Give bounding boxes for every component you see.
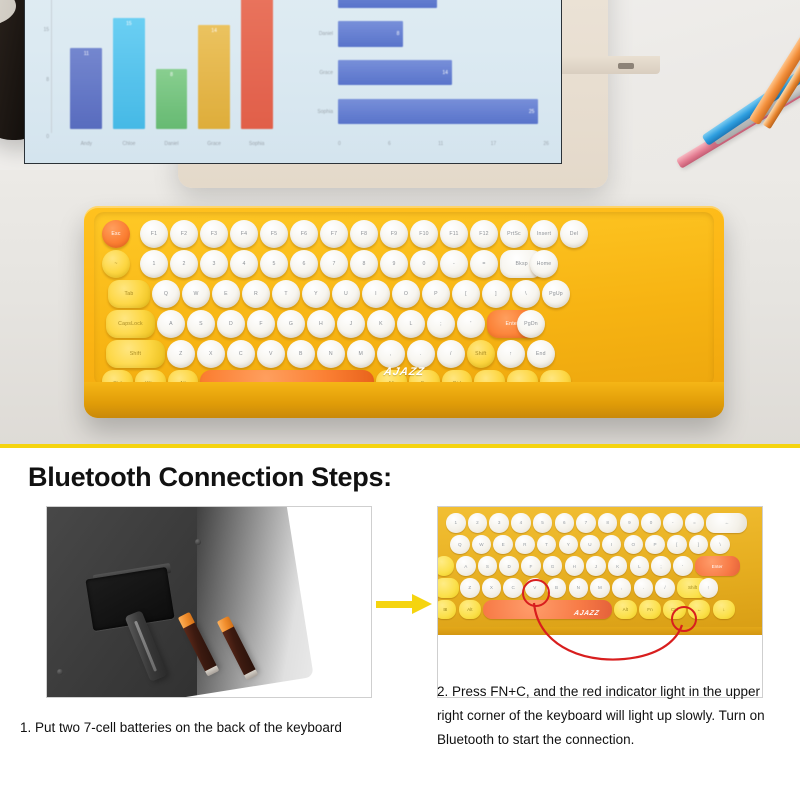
highlight-ring-c-key bbox=[522, 579, 550, 607]
hxtick-0: 0 bbox=[338, 141, 341, 147]
mkey-[interactable]: / bbox=[655, 578, 675, 598]
key-f12[interactable]: F12 bbox=[470, 220, 498, 248]
mkey-[interactable]: - bbox=[663, 513, 683, 533]
key-Shift[interactable]: Shift bbox=[467, 340, 495, 368]
product-photo-hero: 柱状图 0 8 15 23 30 11 15 8 14 25 bbox=[0, 0, 800, 446]
mkey-[interactable]: \ bbox=[710, 535, 730, 555]
key-[interactable]: . bbox=[407, 340, 435, 368]
mkey-I[interactable]: I bbox=[602, 535, 622, 555]
key-[interactable]: ] bbox=[482, 280, 510, 308]
x-axis-labels: Andy Chloe Daniel Grace Sophia bbox=[65, 141, 278, 147]
mkey-[interactable]: [ bbox=[667, 535, 687, 555]
mkey-4[interactable]: 4 bbox=[511, 513, 531, 533]
key-E[interactable]: E bbox=[212, 280, 240, 308]
mkey-2[interactable]: 2 bbox=[468, 513, 488, 533]
mkey-X[interactable]: X bbox=[482, 578, 502, 598]
bar-daniel: 8 bbox=[156, 69, 188, 129]
key-R[interactable]: R bbox=[242, 280, 270, 308]
key-f6[interactable]: F6 bbox=[290, 220, 318, 248]
mkey-fn[interactable]: Fn bbox=[639, 600, 661, 620]
key-H[interactable]: H bbox=[307, 310, 335, 338]
ytick-1: 8 bbox=[46, 77, 49, 83]
mkey-Y[interactable]: Y bbox=[559, 535, 579, 555]
key-3[interactable]: 3 bbox=[200, 250, 228, 278]
key-J[interactable]: J bbox=[337, 310, 365, 338]
mkey-left-shift[interactable] bbox=[438, 578, 459, 598]
key-[interactable]: = bbox=[470, 250, 498, 278]
mkey-1[interactable]: 1 bbox=[446, 513, 466, 533]
key-2[interactable]: 2 bbox=[170, 250, 198, 278]
horizontal-bar-chart: 条形图 Andy Chloe Daniel Grace Sophia 11 12… bbox=[294, 0, 562, 164]
key-4[interactable]: 4 bbox=[230, 250, 258, 278]
horizontal-x-axis-ticks: 0 6 11 17 26 bbox=[338, 141, 549, 147]
key-S[interactable]: S bbox=[187, 310, 215, 338]
mini-keyboard: 1234567890-=←QWERTYUIOP[]\ASDFGHJKL;'Ent… bbox=[438, 507, 762, 635]
mkey-H[interactable]: H bbox=[565, 556, 585, 576]
key-G[interactable]: G bbox=[277, 310, 305, 338]
hrow-chloe: 12 bbox=[338, 0, 549, 8]
section-heading: Bluetooth Connection Steps: bbox=[28, 462, 392, 493]
hrow-sophia: 25 bbox=[338, 99, 549, 124]
mkey-M[interactable]: M bbox=[590, 578, 610, 598]
key-Tab[interactable]: Tab bbox=[108, 280, 150, 308]
key-0[interactable]: 0 bbox=[410, 250, 438, 278]
step1-caption: 1. Put two 7-cell batteries on the back … bbox=[20, 716, 400, 740]
key-f9[interactable]: F9 bbox=[380, 220, 408, 248]
key-P[interactable]: P bbox=[422, 280, 450, 308]
key-D[interactable]: D bbox=[217, 310, 245, 338]
key-Home[interactable]: Home bbox=[530, 250, 558, 278]
mkey-6[interactable]: 6 bbox=[555, 513, 575, 533]
hlabel-daniel: Daniel bbox=[298, 21, 336, 46]
xlabel-grace: Grace bbox=[198, 141, 230, 147]
hxtick-4: 26 bbox=[543, 141, 549, 147]
mkey-0[interactable]: 0 bbox=[641, 513, 661, 533]
key-[interactable]: ↑ bbox=[497, 340, 525, 368]
mkey-alt[interactable]: Alt bbox=[459, 600, 481, 620]
mini-keyboard-brand-logo: AJAZZ bbox=[573, 610, 600, 617]
mkey-P[interactable]: P bbox=[645, 535, 665, 555]
mkey-S[interactable]: S bbox=[478, 556, 498, 576]
bar-sophia: 25 bbox=[241, 0, 273, 129]
highlight-ring-fn-key bbox=[671, 606, 697, 632]
key-B[interactable]: B bbox=[287, 340, 315, 368]
yellow-right-arrow-icon bbox=[376, 594, 434, 614]
key-PgUp[interactable]: PgUp bbox=[542, 280, 570, 308]
key-A[interactable]: A bbox=[157, 310, 185, 338]
key-Z[interactable]: Z bbox=[167, 340, 195, 368]
hrow-grace: 14 bbox=[338, 60, 549, 85]
key-prtsc[interactable]: PrtSc bbox=[500, 220, 528, 248]
mkey-[interactable]: , bbox=[612, 578, 632, 598]
hxtick-1: 6 bbox=[388, 141, 391, 147]
mkey-J[interactable]: J bbox=[586, 556, 606, 576]
mkey-left-edge-a[interactable] bbox=[438, 556, 454, 576]
key-7[interactable]: 7 bbox=[320, 250, 348, 278]
key-f10[interactable]: F10 bbox=[410, 220, 438, 248]
key-f1[interactable]: F1 bbox=[140, 220, 168, 248]
key-f5[interactable]: F5 bbox=[260, 220, 288, 248]
xlabel-sophia: Sophia bbox=[241, 141, 273, 147]
screw-icon bbox=[57, 669, 63, 675]
mkey-[interactable]: ← bbox=[706, 513, 747, 533]
key-U[interactable]: U bbox=[332, 280, 360, 308]
mkey-Q[interactable]: Q bbox=[450, 535, 470, 555]
hxtick-2: 11 bbox=[438, 141, 443, 147]
bar-andy: 11 bbox=[70, 48, 102, 129]
key-[interactable]: ; bbox=[427, 310, 455, 338]
mkey-Z[interactable]: Z bbox=[460, 578, 480, 598]
mkey-K[interactable]: K bbox=[608, 556, 628, 576]
horizontal-category-labels: Andy Chloe Daniel Grace Sophia bbox=[298, 0, 336, 131]
mkey-R[interactable]: R bbox=[515, 535, 535, 555]
y-axis-line bbox=[51, 0, 52, 133]
key-PgDn[interactable]: PgDn bbox=[517, 310, 545, 338]
mkey-[interactable]: ↑ bbox=[699, 578, 719, 598]
key-[interactable]: [ bbox=[452, 280, 480, 308]
mkey-[interactable]: ; bbox=[651, 556, 671, 576]
mkey-↓[interactable]: ↓ bbox=[713, 600, 735, 620]
key-8[interactable]: 8 bbox=[350, 250, 378, 278]
key-X[interactable]: X bbox=[197, 340, 225, 368]
key-W[interactable]: W bbox=[182, 280, 210, 308]
mkey-7[interactable]: 7 bbox=[576, 513, 596, 533]
xlabel-chloe: Chloe bbox=[113, 141, 145, 147]
mkey-win[interactable]: ⊞ bbox=[438, 600, 456, 620]
key-[interactable]: / bbox=[437, 340, 465, 368]
mkey-F[interactable]: F bbox=[521, 556, 541, 576]
key-f2[interactable]: F2 bbox=[170, 220, 198, 248]
key-f11[interactable]: F11 bbox=[440, 220, 468, 248]
xlabel-andy: Andy bbox=[70, 141, 102, 147]
step2-caption: 2. Press FN+C, and the red indicator lig… bbox=[437, 680, 789, 752]
charts-container: 柱状图 0 8 15 23 30 11 15 8 14 25 bbox=[25, 0, 562, 164]
key-O[interactable]: O bbox=[392, 280, 420, 308]
key-6[interactable]: 6 bbox=[290, 250, 318, 278]
mini-keyboard-front-lip bbox=[438, 627, 762, 635]
mkey-[interactable]: = bbox=[685, 513, 705, 533]
key-Y[interactable]: Y bbox=[302, 280, 330, 308]
mkey-8[interactable]: 8 bbox=[598, 513, 618, 533]
mkey-C[interactable]: C bbox=[503, 578, 523, 598]
mkey-G[interactable]: G bbox=[543, 556, 563, 576]
photo-fade bbox=[197, 506, 372, 698]
bar-grace: 14 bbox=[198, 25, 230, 129]
keyboard-front-edge bbox=[84, 382, 724, 418]
key-[interactable]: - bbox=[440, 250, 468, 278]
mkey-T[interactable]: T bbox=[537, 535, 557, 555]
key-1[interactable]: 1 bbox=[140, 250, 168, 278]
hlabel-sophia: Sophia bbox=[298, 99, 336, 124]
mkey-5[interactable]: 5 bbox=[533, 513, 553, 533]
y-axis-ticks: 0 8 15 23 30 bbox=[29, 0, 51, 137]
xlabel-daniel: Daniel bbox=[156, 141, 188, 147]
key-[interactable]: \ bbox=[512, 280, 540, 308]
hlabel-grace: Grace bbox=[298, 60, 336, 85]
vertical-bars-plot: 11 15 8 14 25 bbox=[65, 0, 278, 129]
bar-chloe: 15 bbox=[113, 18, 145, 129]
mkey-E[interactable]: E bbox=[493, 535, 513, 555]
key-F[interactable]: F bbox=[247, 310, 275, 338]
key-K[interactable]: K bbox=[367, 310, 395, 338]
key-f4[interactable]: F4 bbox=[230, 220, 258, 248]
vertical-bar-chart: 柱状图 0 8 15 23 30 11 15 8 14 25 bbox=[25, 0, 294, 164]
mug-rim bbox=[0, 0, 16, 28]
horizontal-bars-plot: 11 12 8 14 25 bbox=[338, 0, 549, 131]
ytick-2: 15 bbox=[43, 27, 49, 33]
key-9[interactable]: 9 bbox=[380, 250, 408, 278]
key-C[interactable]: C bbox=[227, 340, 255, 368]
key-f7[interactable]: F7 bbox=[320, 220, 348, 248]
key-End[interactable]: End bbox=[527, 340, 555, 368]
mkey-N[interactable]: N bbox=[569, 578, 589, 598]
mkey-alt[interactable]: Alt bbox=[614, 600, 636, 620]
vertical-bar-group: 11 15 8 14 25 bbox=[65, 0, 278, 129]
step1-illustration-panel bbox=[46, 506, 372, 698]
mkey-Enter[interactable]: Enter bbox=[695, 556, 740, 576]
tablet-screen: 柱状图 0 8 15 23 30 11 15 8 14 25 bbox=[24, 0, 562, 164]
mkey-A[interactable]: A bbox=[456, 556, 476, 576]
mkey-9[interactable]: 9 bbox=[620, 513, 640, 533]
key-5[interactable]: 5 bbox=[260, 250, 288, 278]
key-f8[interactable]: F8 bbox=[350, 220, 378, 248]
key-T[interactable]: T bbox=[272, 280, 300, 308]
key-[interactable]: , bbox=[377, 340, 405, 368]
key-L[interactable]: L bbox=[397, 310, 425, 338]
mkey-W[interactable]: W bbox=[472, 535, 492, 555]
mkey-3[interactable]: 3 bbox=[489, 513, 509, 533]
hlabel-chloe: Chloe bbox=[298, 0, 336, 8]
hrow-daniel: 8 bbox=[338, 21, 549, 46]
mkey-L[interactable]: L bbox=[630, 556, 650, 576]
key-[interactable]: ' bbox=[457, 310, 485, 338]
step2-illustration-panel: 1234567890-=←QWERTYUIOP[]\ASDFGHJKL;'Ent… bbox=[437, 506, 763, 698]
key-tilde[interactable]: ~ bbox=[102, 250, 130, 278]
key-insert[interactable]: Insert bbox=[530, 220, 558, 248]
wireless-keyboard: Esc~F1F2F3F4F5F6F7F8F9F10F11F12PrtScInse… bbox=[84, 206, 724, 418]
key-Shift[interactable]: Shift bbox=[106, 340, 165, 368]
mkey-[interactable]: ] bbox=[689, 535, 709, 555]
mkey-O[interactable]: O bbox=[624, 535, 644, 555]
mkey-U[interactable]: U bbox=[580, 535, 600, 555]
mkey-[interactable]: ' bbox=[673, 556, 693, 576]
key-Q[interactable]: Q bbox=[152, 280, 180, 308]
key-esc[interactable]: Esc bbox=[102, 220, 130, 248]
key-N[interactable]: N bbox=[317, 340, 345, 368]
ytick-0: 0 bbox=[46, 134, 49, 140]
key-del[interactable]: Del bbox=[560, 220, 588, 248]
key-f3[interactable]: F3 bbox=[200, 220, 228, 248]
mkey-D[interactable]: D bbox=[499, 556, 519, 576]
mkey-[interactable]: . bbox=[634, 578, 654, 598]
hxtick-3: 17 bbox=[491, 141, 497, 147]
key-CapsLock[interactable]: CapsLock bbox=[106, 310, 155, 338]
screw-icon bbox=[195, 539, 201, 545]
key-M[interactable]: M bbox=[347, 340, 375, 368]
key-V[interactable]: V bbox=[257, 340, 285, 368]
instructions-section: Bluetooth Connection Steps: 1234567890-=… bbox=[0, 448, 800, 800]
keyboard-brand-logo: AJAZZ bbox=[383, 366, 426, 378]
key-I[interactable]: I bbox=[362, 280, 390, 308]
